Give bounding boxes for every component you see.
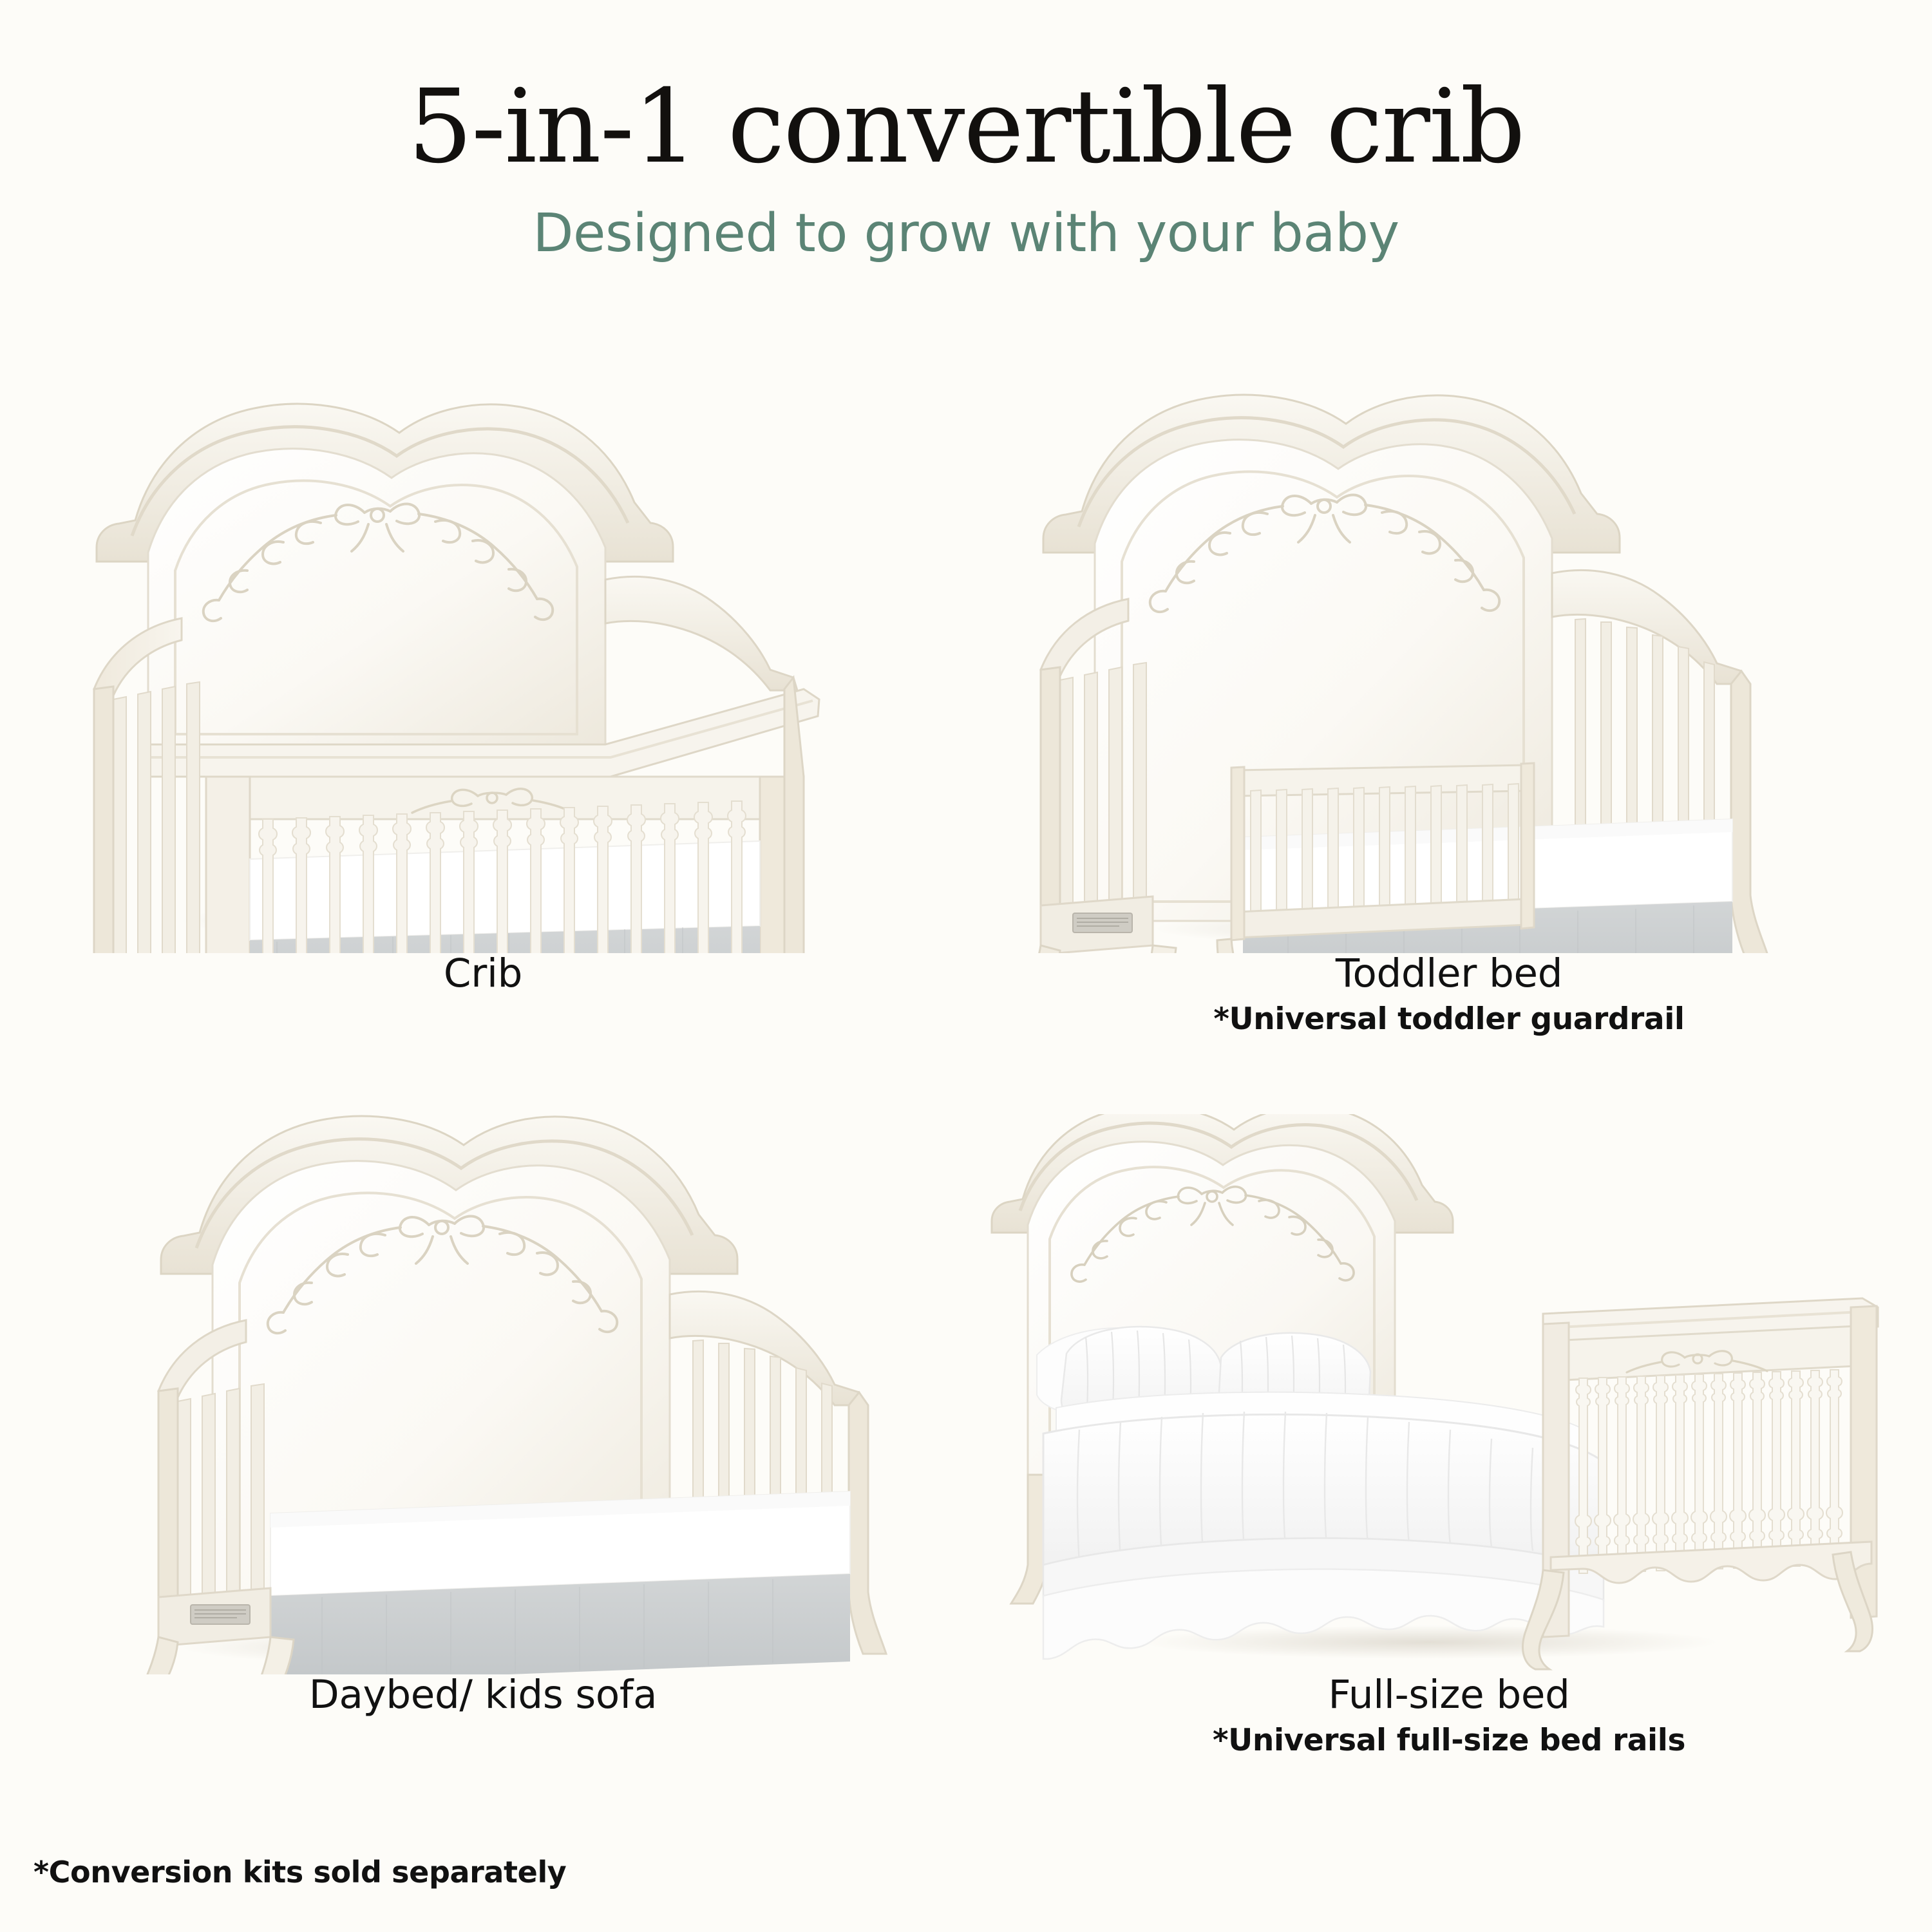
crib-caption: Crib bbox=[0, 953, 966, 994]
page-title: 5-in-1 convertible crib bbox=[0, 76, 1932, 178]
footnote: *Conversion kits sold separately bbox=[33, 1855, 566, 1889]
product-grid: Crib bbox=[0, 386, 1932, 1835]
toddler-bed-subcaption: *Universal toddler guardrail bbox=[966, 1003, 1932, 1035]
daybed-illustration bbox=[0, 1114, 966, 1674]
crib-caption-block: Crib bbox=[0, 953, 966, 994]
toddler-bed-caption-block: Toddler bed *Universal toddler guardrail bbox=[966, 953, 1932, 1035]
toddler-bed-illustration bbox=[966, 386, 1932, 953]
product-cell-full-size-bed: Full-size bed *Universal full-size bed r… bbox=[966, 1114, 1932, 1835]
product-cell-crib: Crib bbox=[0, 386, 966, 1114]
product-cell-daybed: Daybed/ kids sofa bbox=[0, 1114, 966, 1835]
daybed-caption: Daybed/ kids sofa bbox=[0, 1674, 966, 1716]
crib-illustration bbox=[0, 386, 966, 953]
product-cell-toddler-bed: Toddler bed *Universal toddler guardrail bbox=[966, 386, 1932, 1114]
full-size-bed-illustration bbox=[966, 1114, 1932, 1674]
full-size-bed-subcaption: *Universal full-size bed rails bbox=[966, 1725, 1932, 1756]
full-size-bed-caption: Full-size bed bbox=[966, 1674, 1932, 1716]
header: 5-in-1 convertible crib Designed to grow… bbox=[0, 0, 1932, 260]
toddler-bed-caption: Toddler bed bbox=[966, 953, 1932, 994]
daybed-caption-block: Daybed/ kids sofa bbox=[0, 1674, 966, 1716]
full-size-bed-caption-block: Full-size bed *Universal full-size bed r… bbox=[966, 1674, 1932, 1756]
page-subtitle: Designed to grow with your baby bbox=[0, 207, 1932, 260]
